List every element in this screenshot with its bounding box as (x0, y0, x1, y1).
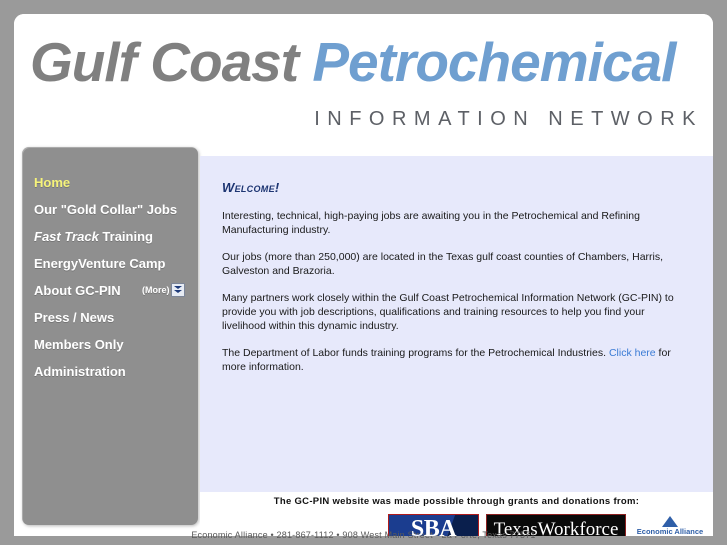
sidebar-item-label: Training (99, 229, 153, 244)
intro-paragraph-1: Interesting, technical, high-paying jobs… (222, 209, 691, 237)
more-label: (More) (142, 286, 170, 295)
page-card: Gulf Coast Petrochemical INFORMATION NET… (14, 14, 713, 536)
main-content-panel: Welcome! Interesting, technical, high-pa… (200, 156, 713, 492)
dol-text-before: The Department of Labor funds training p… (222, 347, 609, 359)
page-title: Welcome! (222, 180, 691, 195)
sidebar-item-label: Administration (34, 364, 126, 379)
logo-text-gulf-coast: Gulf Coast (30, 31, 298, 93)
site-masthead: Gulf Coast Petrochemical INFORMATION NET… (14, 14, 713, 142)
intro-paragraph-4: The Department of Labor funds training p… (222, 346, 691, 374)
main-content-body: Welcome! Interesting, technical, high-pa… (200, 156, 713, 397)
sidebar-item-label: EnergyVenture Camp (34, 256, 166, 271)
sidebar-item-label-italic: Fast Track (34, 229, 99, 244)
click-here-link[interactable]: Click here (609, 347, 656, 359)
sidebar-item-members-only[interactable]: Members Only (34, 331, 198, 358)
site-logo[interactable]: Gulf Coast Petrochemical (30, 26, 700, 98)
sidebar-item-administration[interactable]: Administration (34, 358, 198, 385)
sidebar-item-label: Home (34, 175, 70, 190)
triangle-mark-icon (662, 516, 678, 527)
sidebar-item-about-gc-pin[interactable]: About GC-PIN (More) (34, 277, 198, 304)
sidebar-item-press-news[interactable]: Press / News (34, 304, 198, 331)
sidebar-item-gold-collar-jobs[interactable]: Our "Gold Collar" Jobs (34, 196, 198, 223)
sba-logo-text: SBA (411, 517, 456, 536)
sidebar-item-label: Members Only (34, 337, 124, 352)
sidebar-item-label: Press / News (34, 310, 114, 325)
intro-paragraph-2: Our jobs (more than 250,000) are located… (222, 250, 691, 278)
sponsor-note: The GC-PIN website was made possible thr… (200, 492, 713, 510)
sidebar-item-fast-track-training[interactable]: Fast Track Training (34, 223, 198, 250)
sidebar-nav: Home Our "Gold Collar" Jobs Fast Track T… (22, 147, 198, 525)
logo-subtitle: INFORMATION NETWORK (314, 108, 703, 131)
logo-text-petrochemical: Petrochemical (312, 31, 675, 93)
intro-paragraph-3: Many partners work closely within the Gu… (222, 291, 691, 333)
sidebar-item-label: About GC-PIN (34, 283, 121, 298)
sidebar-item-energyventure-camp[interactable]: EnergyVenture Camp (34, 250, 198, 277)
chevron-double-down-icon[interactable] (171, 283, 185, 297)
sidebar-item-label: Our "Gold Collar" Jobs (34, 202, 177, 217)
about-more-group[interactable]: (More) (142, 281, 185, 299)
sidebar-item-home[interactable]: Home (34, 169, 198, 196)
contact-line: Economic Alliance • 281-867-1112 • 908 W… (0, 530, 727, 540)
